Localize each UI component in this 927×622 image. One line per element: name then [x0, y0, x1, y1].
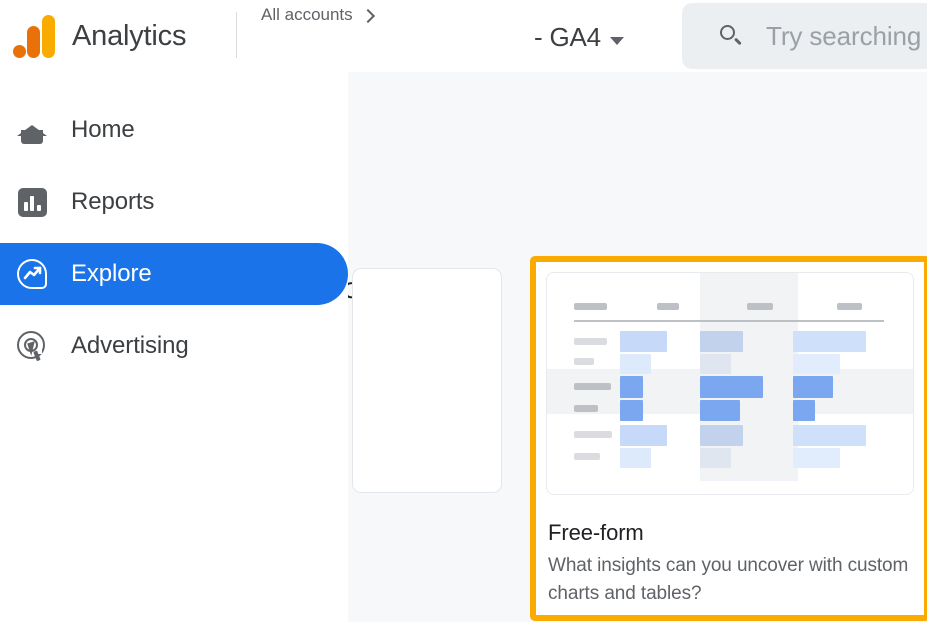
- sidebar-item-label-advertising: Advertising: [71, 332, 189, 360]
- search-input[interactable]: Try searching: [682, 3, 927, 69]
- thumbnail-row-label: [574, 453, 600, 460]
- free-form-thumbnail: [546, 272, 914, 495]
- sidebar-item-label-reports: Reports: [71, 188, 154, 216]
- sidebar-item-reports[interactable]: Reports: [0, 171, 348, 233]
- thumbnail-bar: [700, 354, 731, 374]
- thumbnail-bar: [793, 425, 866, 446]
- chevron-right-icon: [361, 9, 374, 22]
- thumbnail-bar: [700, 400, 740, 421]
- thumbnail-bar: [793, 400, 815, 421]
- thumbnail-bar: [620, 425, 667, 446]
- property-name: - GA4: [534, 22, 601, 53]
- thumbnail-row-label: [574, 431, 612, 438]
- thumbnail-row-label: [574, 338, 607, 345]
- thumbnail-header-label: [574, 303, 607, 310]
- sidebar-item-advertising[interactable]: Advertising: [0, 315, 348, 377]
- home-icon: [13, 111, 51, 149]
- thumbnail-row-label: [574, 383, 611, 390]
- thumbnail-bar: [793, 331, 866, 352]
- thumbnail-bar: [700, 425, 743, 446]
- sidebar-item-label-home: Home: [71, 116, 135, 144]
- sidebar-nav: Home Reports Explore: [0, 72, 348, 622]
- sidebar-item-home[interactable]: Home: [0, 99, 348, 161]
- topbar-divider: [236, 12, 237, 58]
- sidebar-item-explore[interactable]: Explore: [0, 243, 348, 305]
- template-card-blank[interactable]: [352, 268, 502, 493]
- thumbnail-bar: [700, 331, 743, 352]
- explore-icon: [13, 255, 51, 293]
- all-accounts-label: All accounts: [261, 5, 353, 25]
- search-placeholder: Try searching: [766, 21, 921, 52]
- caret-down-icon: [610, 37, 624, 45]
- sidebar-item-label-explore: Explore: [71, 260, 152, 288]
- search-icon: [718, 23, 744, 49]
- brand-logo-area[interactable]: Analytics: [10, 8, 186, 64]
- thumbnail-header-label: [747, 303, 773, 310]
- bar-chart-icon: [13, 183, 51, 221]
- template-card-free-form[interactable]: Free-form What insights can you uncover …: [530, 256, 927, 621]
- thumbnail-header-label: [837, 303, 862, 310]
- thumbnail-bar: [620, 448, 651, 468]
- thumbnail-bar: [620, 331, 667, 352]
- brand-name: Analytics: [72, 20, 186, 53]
- thumbnail-bar: [620, 400, 643, 421]
- thumbnail-header-label: [657, 303, 679, 310]
- all-accounts-breadcrumb[interactable]: All accounts: [261, 0, 374, 30]
- card-description: What insights can you uncover with custo…: [548, 552, 912, 608]
- thumbnail-bar: [620, 354, 651, 374]
- thumbnail-row-label: [574, 405, 598, 412]
- target-cursor-icon: [13, 327, 51, 365]
- thumbnail-bar: [793, 354, 840, 374]
- thumbnail-bar: [620, 376, 643, 398]
- google-analytics-app: Analytics All accounts - GA4 Try searchi…: [0, 0, 927, 622]
- thumbnail-bar: [793, 448, 840, 468]
- card-title: Free-form: [548, 520, 644, 546]
- thumbnail-header-rule: [574, 320, 884, 322]
- google-analytics-logo-icon: [10, 13, 58, 59]
- main-content: Exploration Free-form What insights can …: [348, 72, 927, 622]
- thumbnail-bar: [700, 448, 731, 468]
- thumbnail-bar: [700, 376, 763, 398]
- thumbnail-row-label: [574, 358, 594, 365]
- thumbnail-bar: [793, 376, 833, 398]
- top-bar: Analytics All accounts - GA4 Try searchi…: [0, 0, 927, 72]
- property-selector[interactable]: - GA4: [534, 22, 624, 53]
